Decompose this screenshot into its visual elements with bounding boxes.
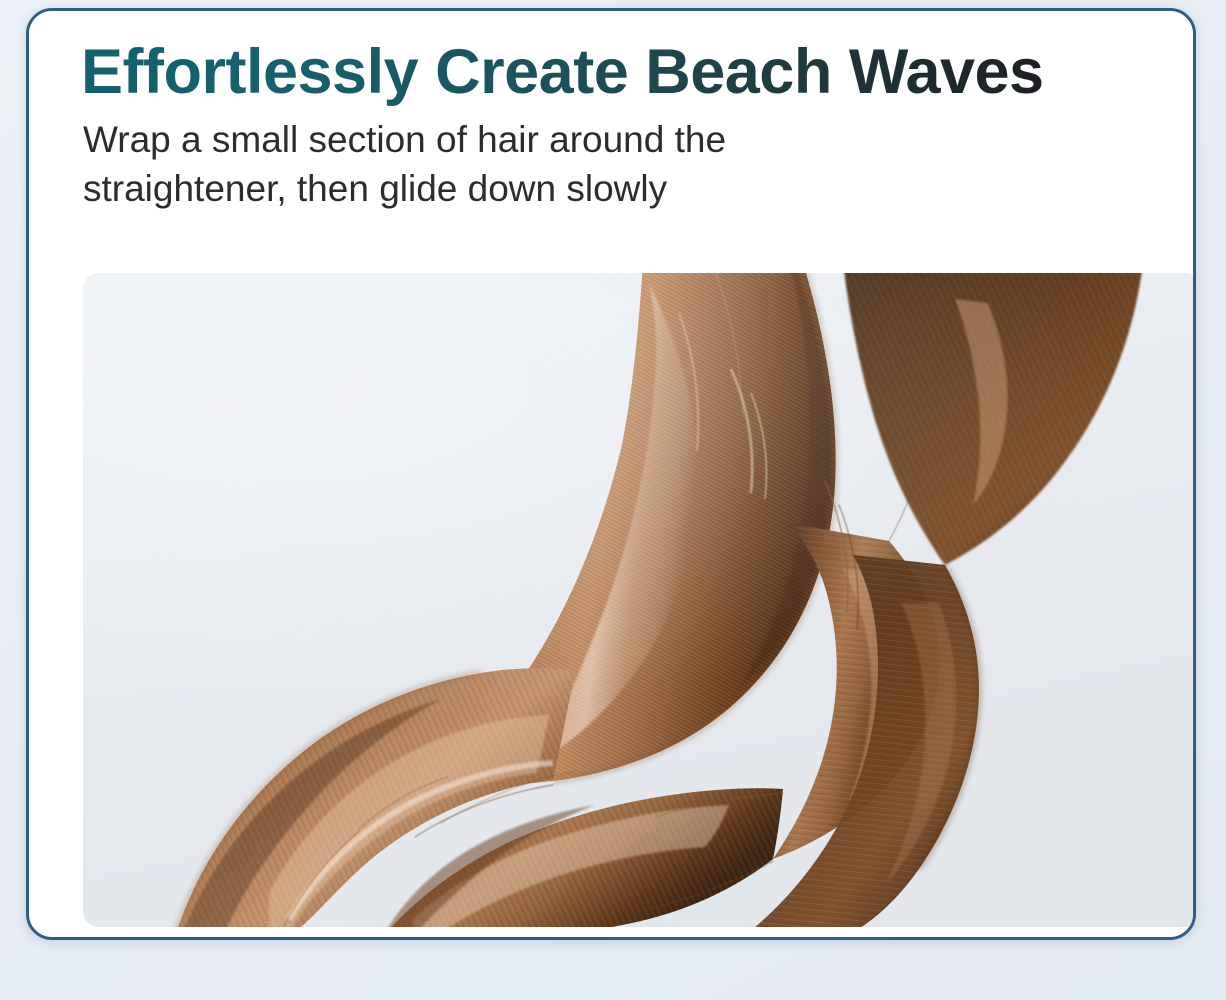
hair-image-panel bbox=[83, 273, 1196, 927]
card-header: Effortlessly Create Beach Waves Wrap a s… bbox=[81, 39, 1175, 213]
page-subtitle: Wrap a small section of hair around the … bbox=[83, 115, 913, 213]
instruction-card: Effortlessly Create Beach Waves Wrap a s… bbox=[26, 8, 1196, 940]
page-title: Effortlessly Create Beach Waves bbox=[81, 39, 1175, 106]
card-content: Effortlessly Create Beach Waves Wrap a s… bbox=[29, 11, 1193, 937]
page-root: Effortlessly Create Beach Waves Wrap a s… bbox=[0, 0, 1226, 1000]
hair-photo bbox=[83, 273, 1196, 927]
